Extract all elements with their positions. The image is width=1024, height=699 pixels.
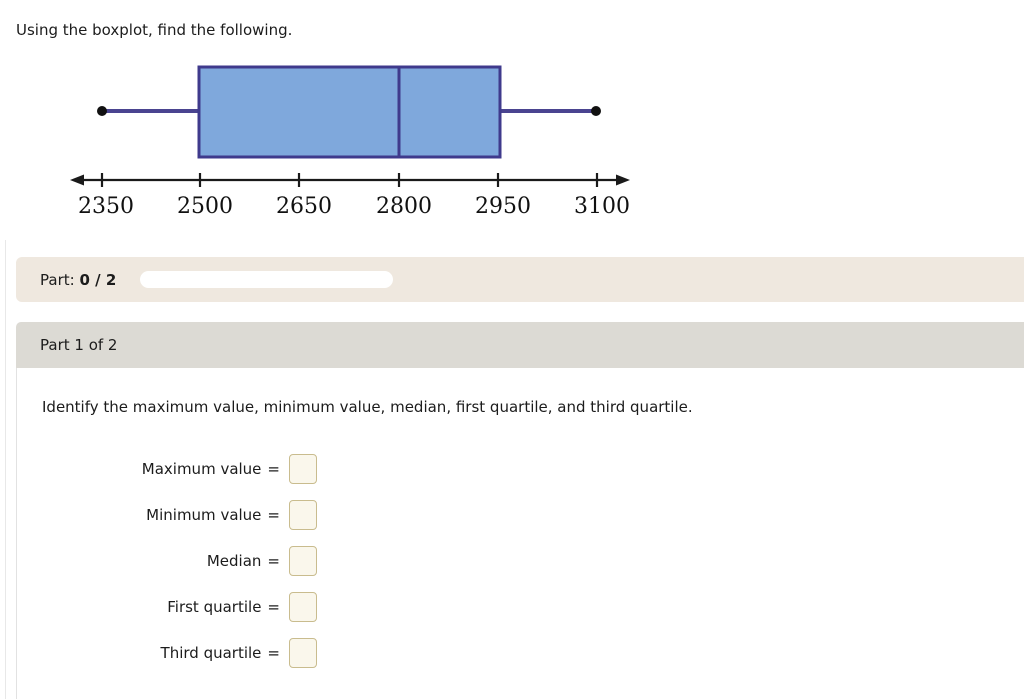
tick-label: 2950 [475, 194, 531, 219]
equals-sign: = [267, 598, 280, 616]
part-header: Part 1 of 2 [16, 322, 1024, 368]
boxplot-axis [70, 173, 630, 187]
equals-sign: = [267, 644, 280, 662]
equals-sign: = [267, 506, 280, 524]
boxplot-figure: 2350 2500 2650 2800 2950 3100 [0, 48, 700, 223]
part-progress-bar: Part: 0 / 2 [16, 257, 1024, 302]
tick-label: 3100 [574, 194, 630, 219]
part-progress-prefix: Part: [40, 271, 75, 289]
tick-label: 2650 [276, 194, 332, 219]
part-progress-label: Part: 0 / 2 [40, 271, 116, 289]
answer-label: First quartile [167, 598, 261, 616]
answer-label: Third quartile [161, 644, 262, 662]
answer-row-third-quartile: Third quartile = [17, 630, 317, 676]
part-progress-track [140, 271, 393, 288]
tick-label: 2350 [78, 194, 134, 219]
third-quartile-input[interactable] [289, 638, 317, 668]
answer-label: Median [207, 552, 262, 570]
answer-rows: Maximum value = Minimum value = Median =… [17, 446, 317, 676]
answer-row-median: Median = [17, 538, 317, 584]
answer-row-first-quartile: First quartile = [17, 584, 317, 630]
maximum-value-input[interactable] [289, 454, 317, 484]
equals-sign: = [267, 552, 280, 570]
part-header-label: Part 1 of 2 [40, 336, 117, 354]
answer-label: Maximum value [142, 460, 262, 478]
page-prompt: Using the boxplot, find the following. [16, 20, 292, 40]
first-quartile-input[interactable] [289, 592, 317, 622]
question-card: Identify the maximum value, minimum valu… [16, 368, 1024, 699]
minimum-value-input[interactable] [289, 500, 317, 530]
tick-label: 2500 [177, 194, 233, 219]
boxplot-box [199, 67, 500, 157]
answer-row-minimum-value: Minimum value = [17, 492, 317, 538]
answer-row-maximum-value: Maximum value = [17, 446, 317, 492]
part-progress-value: 0 / 2 [79, 271, 116, 289]
median-input[interactable] [289, 546, 317, 576]
equals-sign: = [267, 460, 280, 478]
answer-label: Minimum value [146, 506, 261, 524]
question-instruction: Identify the maximum value, minimum valu… [42, 398, 693, 416]
page-left-rail [5, 240, 6, 699]
boxplot-tick-labels: 2350 2500 2650 2800 2950 3100 [78, 194, 630, 219]
tick-label: 2800 [376, 194, 432, 219]
